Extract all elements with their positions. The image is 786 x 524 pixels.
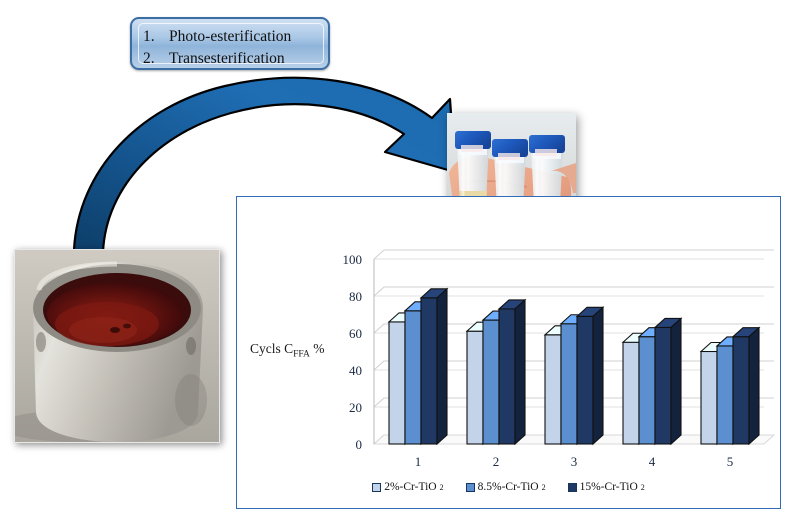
bar-front [421, 298, 437, 444]
bar-front [577, 316, 593, 444]
bar-front [623, 342, 639, 444]
bar-side [515, 300, 525, 444]
x-tick-label: 4 [649, 454, 656, 469]
bar-front [405, 311, 421, 444]
legend-label-1-sub: 2 [542, 483, 546, 492]
callout-item-1-label: Photo-esterification [169, 26, 291, 48]
legend-swatch-0 [372, 483, 381, 492]
bar-front [499, 309, 515, 444]
slide-canvas: 1. Photo-esterification 2. Transesterifi… [0, 0, 786, 524]
y-tick-label: 100 [343, 252, 363, 267]
y-axis-label-suffix: % [310, 341, 325, 356]
chart-legend: 2%-Cr-TiO2 8.5%-Cr-TiO2 15%-Cr-TiO2 [236, 481, 781, 493]
x-tick-label: 1 [415, 454, 422, 469]
bar-front [701, 352, 717, 445]
bar-front [733, 337, 749, 444]
y-axis-label-sub: FFA [293, 350, 310, 360]
bar-side [749, 328, 759, 444]
y-axis-label-main: Cycls C [250, 341, 293, 356]
legend-item-0[interactable]: 2%-Cr-TiO2 [372, 481, 443, 493]
x-tick-label: 2 [493, 454, 500, 469]
callout-item-2-number: 2. [143, 48, 169, 70]
legend-swatch-1 [466, 483, 475, 492]
process-steps-callout[interactable]: 1. Photo-esterification 2. Transesterifi… [130, 17, 330, 70]
bar-front [639, 337, 655, 444]
bar-front [717, 346, 733, 444]
callout-item-1: 1. Photo-esterification [143, 26, 319, 48]
callout-item-2: 2. Transesterification [143, 48, 319, 70]
bar-front [655, 327, 671, 444]
legend-label-1: 8.5%-Cr-TiO [478, 481, 539, 493]
bar-front [467, 331, 483, 444]
waste-oil-pot-image [15, 250, 219, 442]
bar-front [545, 335, 561, 444]
callout-item-1-number: 1. [143, 26, 169, 48]
bar-front [389, 322, 405, 444]
y-tick-label: 40 [349, 363, 362, 378]
x-tick-label: 3 [571, 454, 578, 469]
x-tick-label: 5 [727, 454, 734, 469]
y-tick-label: 60 [349, 326, 362, 341]
legend-item-1[interactable]: 8.5%-Cr-TiO2 [466, 481, 546, 493]
y-tick-label: 80 [349, 289, 362, 304]
callout-item-2-label: Transesterification [169, 48, 285, 70]
y-axis-label: Cycls CFFA % [250, 341, 360, 360]
legend-item-2[interactable]: 15%-Cr-TiO2 [568, 481, 645, 493]
bar-side [593, 307, 603, 444]
bar-side [671, 318, 681, 444]
legend-label-2: 15%-Cr-TiO [580, 481, 638, 493]
waste-oil-pot-photo [14, 249, 220, 443]
legend-label-0-sub: 2 [440, 483, 444, 492]
y-tick-label: 20 [349, 400, 362, 415]
bar-front [561, 324, 577, 444]
legend-swatch-2 [568, 483, 577, 492]
bar-front [483, 320, 499, 444]
bar-side [437, 289, 447, 444]
callout-inner: 1. Photo-esterification 2. Transesterifi… [138, 23, 324, 64]
y-tick-label: 0 [356, 437, 363, 452]
legend-label-0: 2%-Cr-TiO [384, 481, 436, 493]
legend-label-2-sub: 2 [641, 483, 645, 492]
